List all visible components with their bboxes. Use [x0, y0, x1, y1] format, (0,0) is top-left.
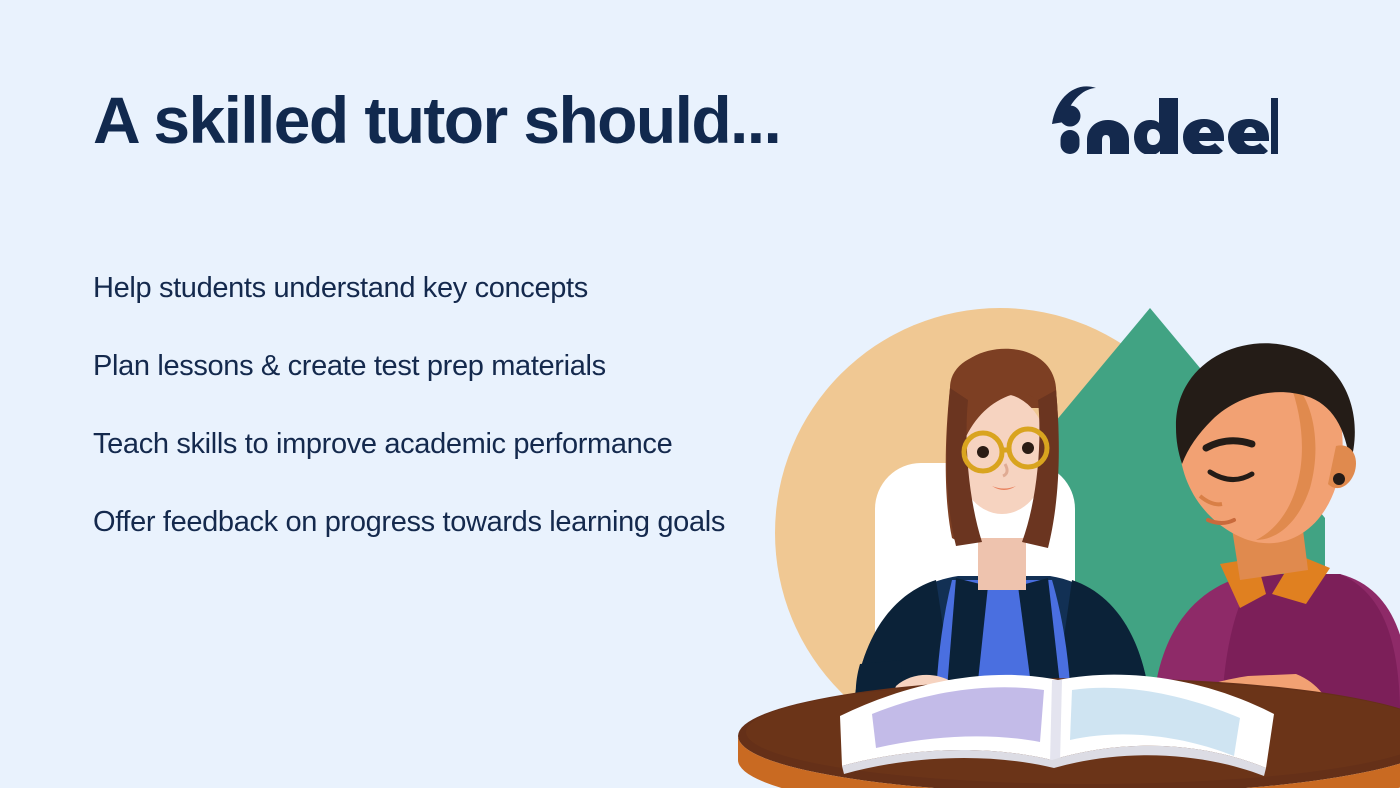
tutor-neck [978, 538, 1026, 590]
tutor-eye-left [977, 446, 989, 458]
slide-canvas: A skilled tutor should... [0, 0, 1400, 788]
tutor-eye-right [1022, 442, 1034, 454]
book-spine-shadow [1050, 680, 1062, 762]
indeed-wordmark-icon [1046, 78, 1278, 154]
page-title: A skilled tutor should... [93, 86, 780, 155]
student-earring-icon [1333, 473, 1345, 485]
tutor-and-student-illustration [700, 268, 1400, 788]
indeed-logo[interactable] [1046, 78, 1278, 154]
